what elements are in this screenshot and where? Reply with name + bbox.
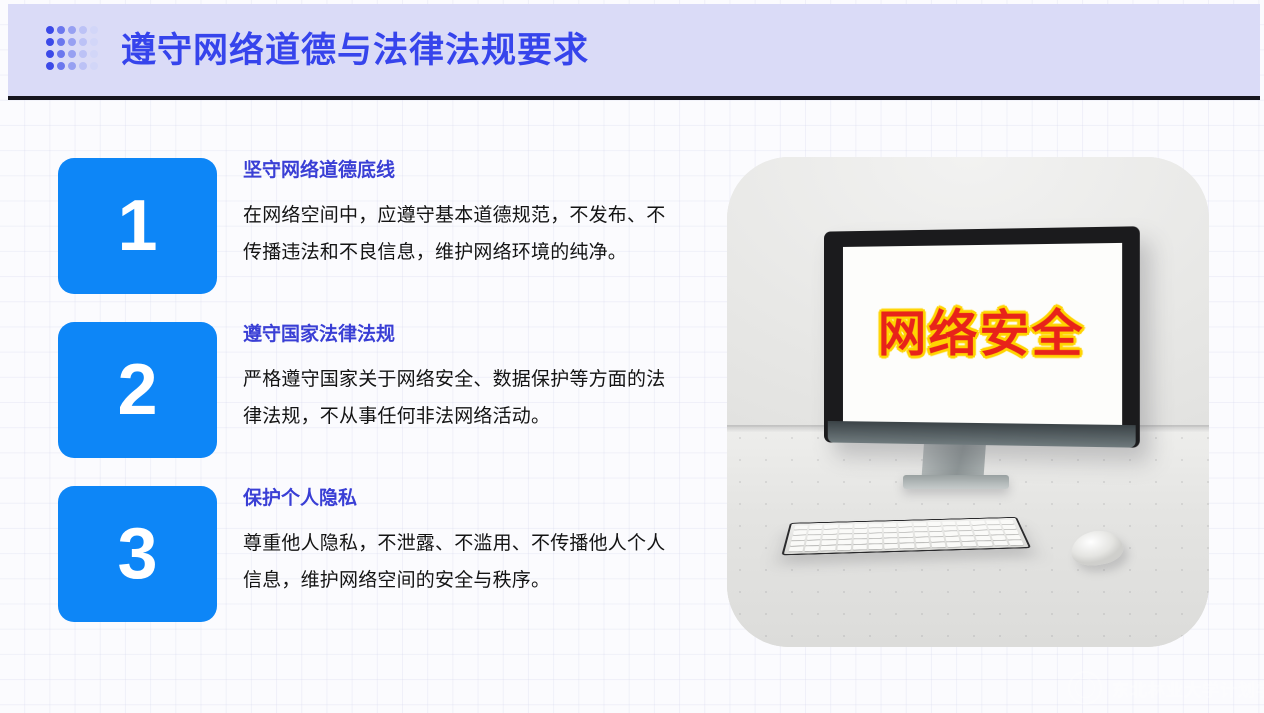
photo-background: 网络安全 <box>727 157 1209 647</box>
watermark-text: 东北林业大学计划学院 <box>1112 676 1264 701</box>
list-item: 2 遵守国家法律法规 严格遵守国家关于网络安全、数据保护等方面的法律法规，不从事… <box>58 322 683 458</box>
university-seal-icon <box>1068 671 1102 705</box>
header-divider <box>8 96 1260 100</box>
item-body: 保护个人隐私 尊重他人隐私，不泄露、不滥用、不传播他人个人信息，维护网络空间的安… <box>243 486 683 599</box>
item-number-badge: 1 <box>58 158 217 294</box>
item-heading: 保护个人隐私 <box>243 488 683 511</box>
item-description: 尊重他人隐私，不泄露、不滥用、不传播他人个人信息，维护网络空间的安全与秩序。 <box>243 525 683 599</box>
item-number-badge: 3 <box>58 486 217 622</box>
monitor-stand-base <box>903 475 1009 489</box>
illustration-photo: 网络安全 <box>727 157 1209 647</box>
item-number-badge: 2 <box>58 322 217 458</box>
item-body: 坚守网络道德底线 在网络空间中，应遵守基本道德规范，不发布、不传播违法和不良信息… <box>243 158 683 271</box>
list-item: 3 保护个人隐私 尊重他人隐私，不泄露、不滥用、不传播他人个人信息，维护网络空间… <box>58 486 683 622</box>
list-item: 1 坚守网络道德底线 在网络空间中，应遵守基本道德规范，不发布、不传播违法和不良… <box>58 158 683 294</box>
page-title: 遵守网络道德与法律法规要求 <box>121 33 589 68</box>
item-body: 遵守国家法律法规 严格遵守国家关于网络安全、数据保护等方面的法律法规，不从事任何… <box>243 322 683 435</box>
screen-text: 网络安全 <box>878 309 1085 360</box>
slide-header: 遵守网络道德与法律法规要求 <box>8 4 1260 96</box>
item-description: 在网络空间中，应遵守基本道德规范，不发布、不传播违法和不良信息，维护网络环境的纯… <box>243 197 683 271</box>
requirement-list: 1 坚守网络道德底线 在网络空间中，应遵守基本道德规范，不发布、不传播违法和不良… <box>58 158 683 650</box>
item-description: 严格遵守国家关于网络安全、数据保护等方面的法律法规，不从事任何非法网络活动。 <box>243 361 683 435</box>
item-heading: 遵守国家法律法规 <box>243 324 683 347</box>
monitor: 网络安全 <box>824 226 1140 448</box>
monitor-screen: 网络安全 <box>843 243 1122 425</box>
item-heading: 坚守网络道德底线 <box>243 160 683 183</box>
slide-root: 遵守网络道德与法律法规要求 1 坚守网络道德底线 在网络空间中，应遵守基本道德规… <box>0 0 1264 713</box>
dot-grid-decoration-icon <box>46 26 101 74</box>
watermark-logo: 东北林业大学计划学院 <box>1068 671 1264 705</box>
